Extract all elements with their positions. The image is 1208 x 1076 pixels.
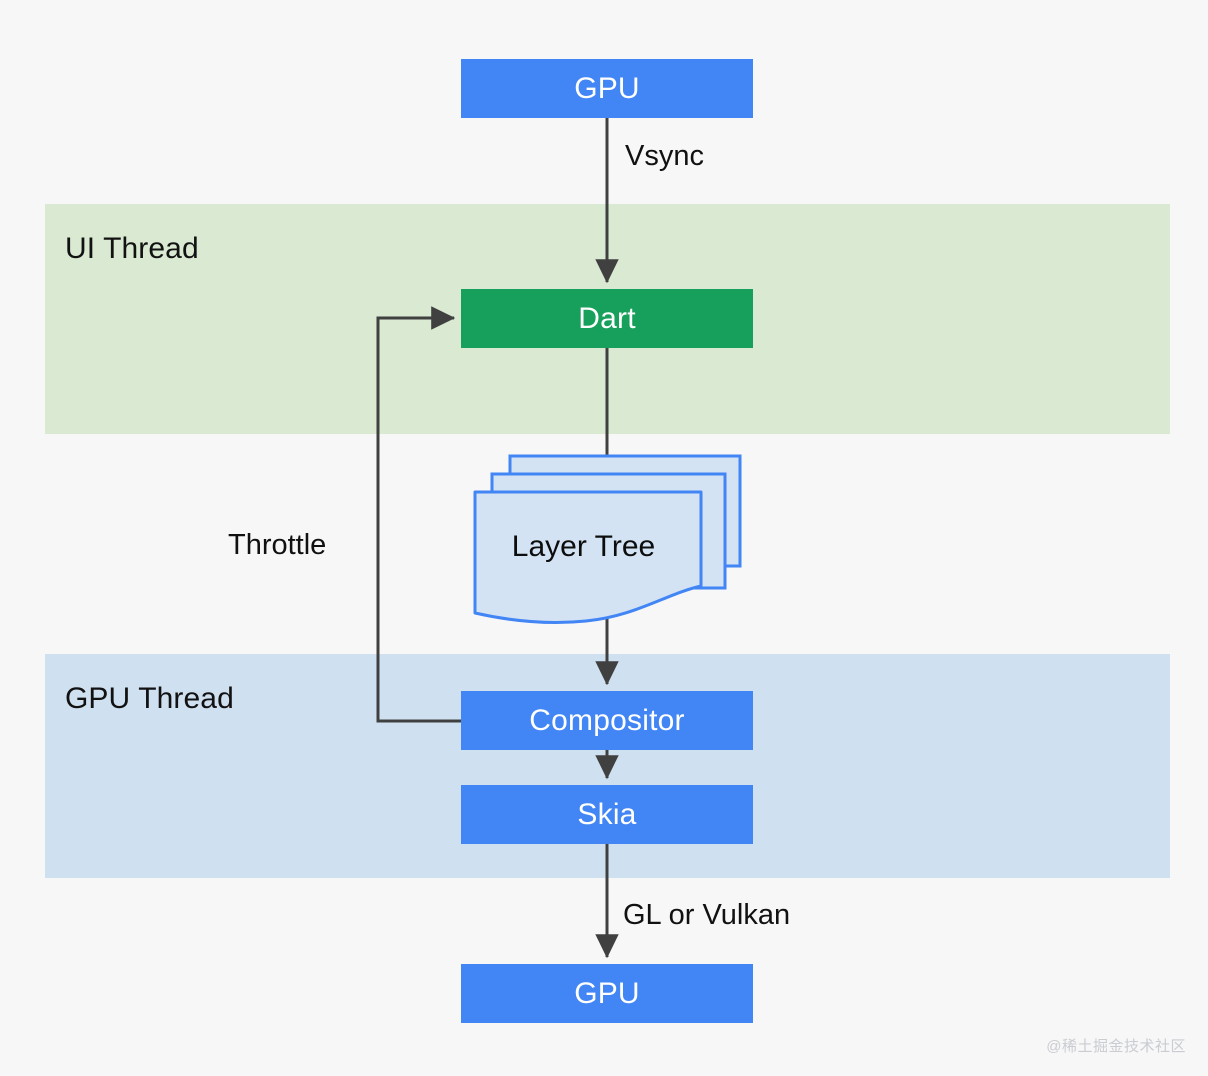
node-layer-tree[interactable]: Layer Tree [466, 448, 756, 633]
swimlane-label-ui-thread: UI Thread [65, 232, 199, 266]
node-compositor[interactable]: Compositor [461, 691, 753, 750]
edge-label-throttle: Throttle [228, 529, 326, 562]
swimlane-label-gpu-thread: GPU Thread [65, 682, 234, 716]
node-label-dart: Dart [578, 302, 635, 336]
edge-label-vsync: Vsync [625, 140, 704, 173]
node-dart[interactable]: Dart [461, 289, 753, 348]
node-label-compositor: Compositor [529, 704, 684, 738]
node-skia[interactable]: Skia [461, 785, 753, 844]
node-label-layer-tree: Layer Tree [466, 530, 701, 564]
node-gpu-bottom[interactable]: GPU [461, 964, 753, 1023]
node-gpu-top[interactable]: GPU [461, 59, 753, 118]
watermark: @稀土掘金技术社区 [1046, 1035, 1186, 1056]
node-label-skia: Skia [577, 798, 636, 832]
node-label-gpu-top: GPU [574, 72, 640, 106]
edge-label-gl-or-vulkan: GL or Vulkan [623, 899, 790, 932]
swimlane-gpu-thread: GPU Thread [45, 654, 1170, 878]
node-label-gpu-bottom: GPU [574, 977, 640, 1011]
diagram-canvas: UI Thread GPU Thread [0, 0, 1208, 1076]
